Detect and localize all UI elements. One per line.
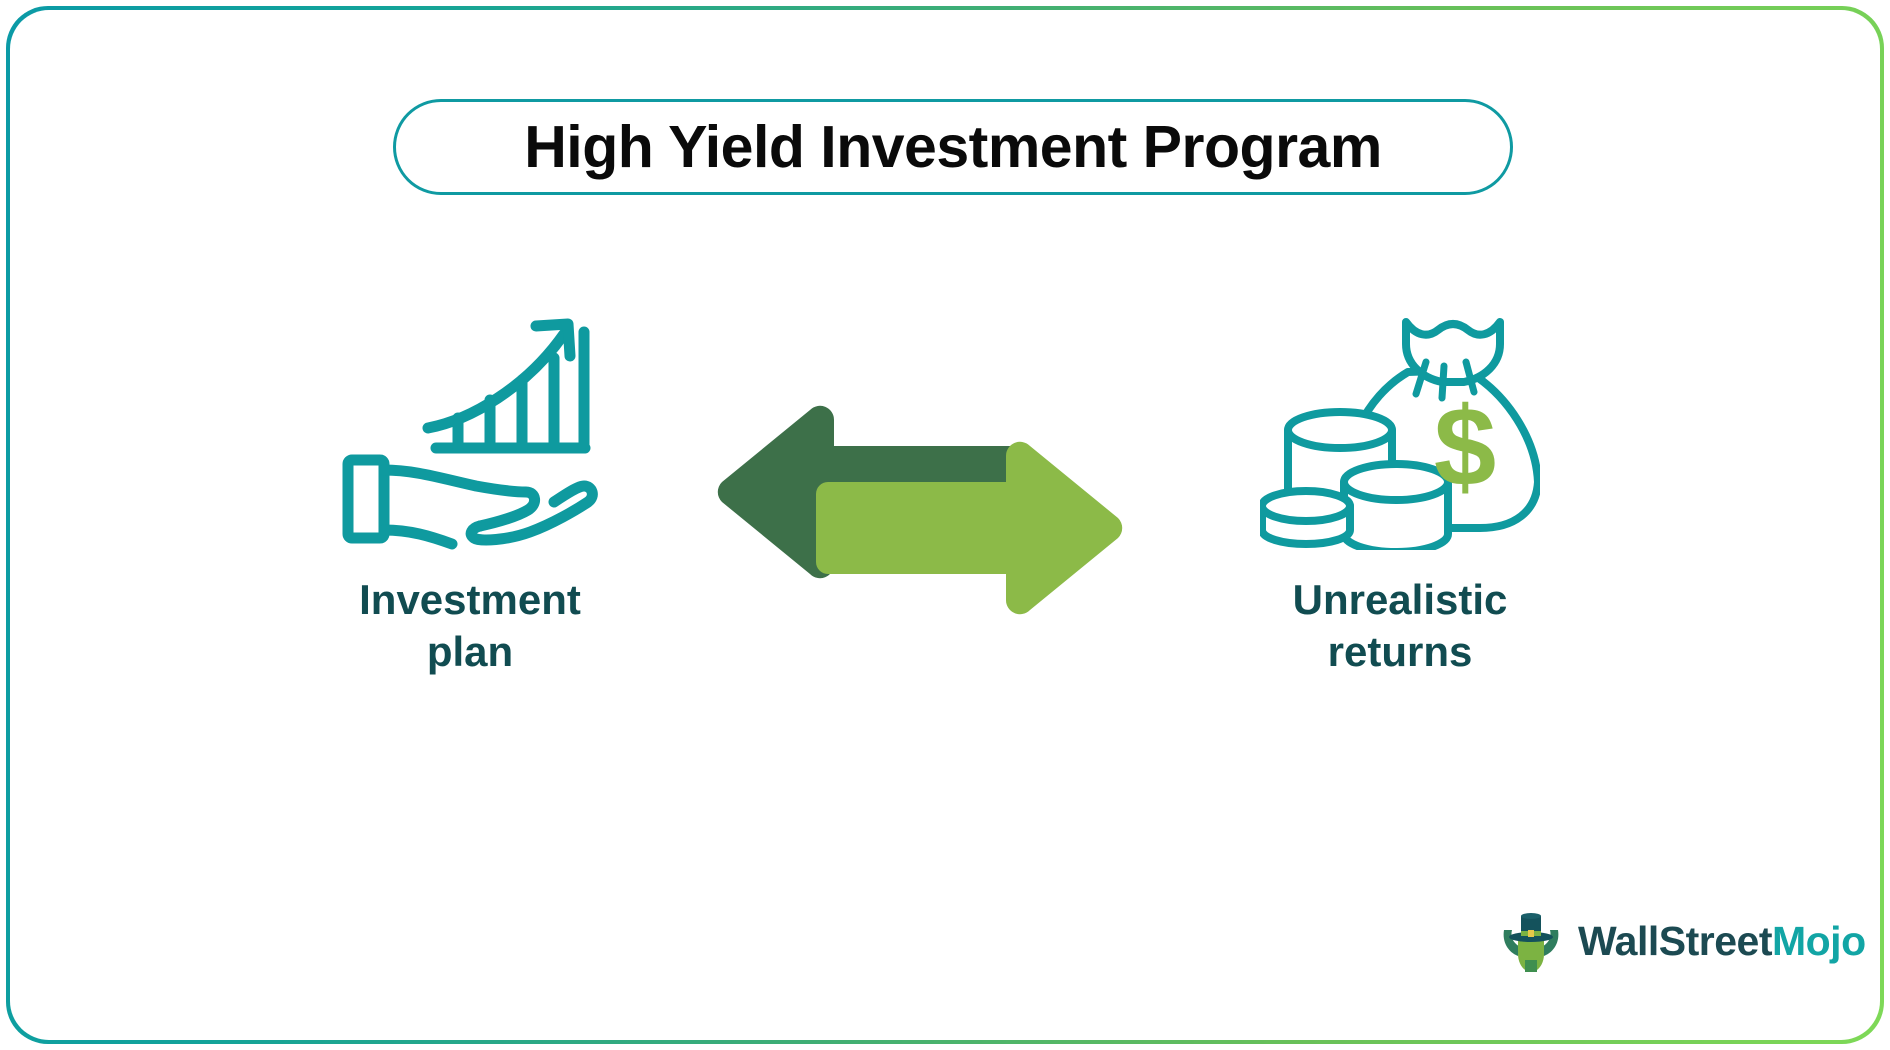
page-frame: High Yield Investment Program [6, 6, 1884, 1044]
left-icon-box [270, 280, 670, 550]
arrow-pair-svg [710, 400, 1130, 620]
brand-logo[interactable]: WallStreetMojo [1498, 908, 1866, 974]
arrow-group [710, 400, 1130, 620]
brand-name: WallStreetMojo [1578, 918, 1866, 965]
money-bag-with-coins-icon: $ [1260, 300, 1540, 550]
left-node-label-line2: plan [270, 626, 670, 678]
node-investment-plan: Investment plan [270, 280, 670, 678]
bull-with-top-hat-icon [1498, 908, 1564, 974]
page-canvas: High Yield Investment Program [10, 10, 1880, 1040]
title-pill: High Yield Investment Program [393, 99, 1513, 195]
node-unrealistic-returns: $ Unrealistic returns [1200, 280, 1600, 678]
left-node-caption: Investment plan [270, 574, 670, 678]
right-node-label-line1: Unrealistic [1200, 574, 1600, 626]
right-node-caption: Unrealistic returns [1200, 574, 1600, 678]
dollar-sign-icon: $ [1434, 384, 1496, 509]
diagram-stage: Investment plan [10, 260, 1880, 720]
brand-name-first: WallStreet [1578, 918, 1772, 964]
left-node-label-line1: Investment [270, 574, 670, 626]
hand-holding-growth-chart-icon [340, 300, 600, 550]
right-icon-box: $ [1200, 280, 1600, 550]
brand-name-second: Mojo [1772, 918, 1866, 964]
right-node-label-line2: returns [1200, 626, 1600, 678]
page-title: High Yield Investment Program [524, 113, 1382, 181]
